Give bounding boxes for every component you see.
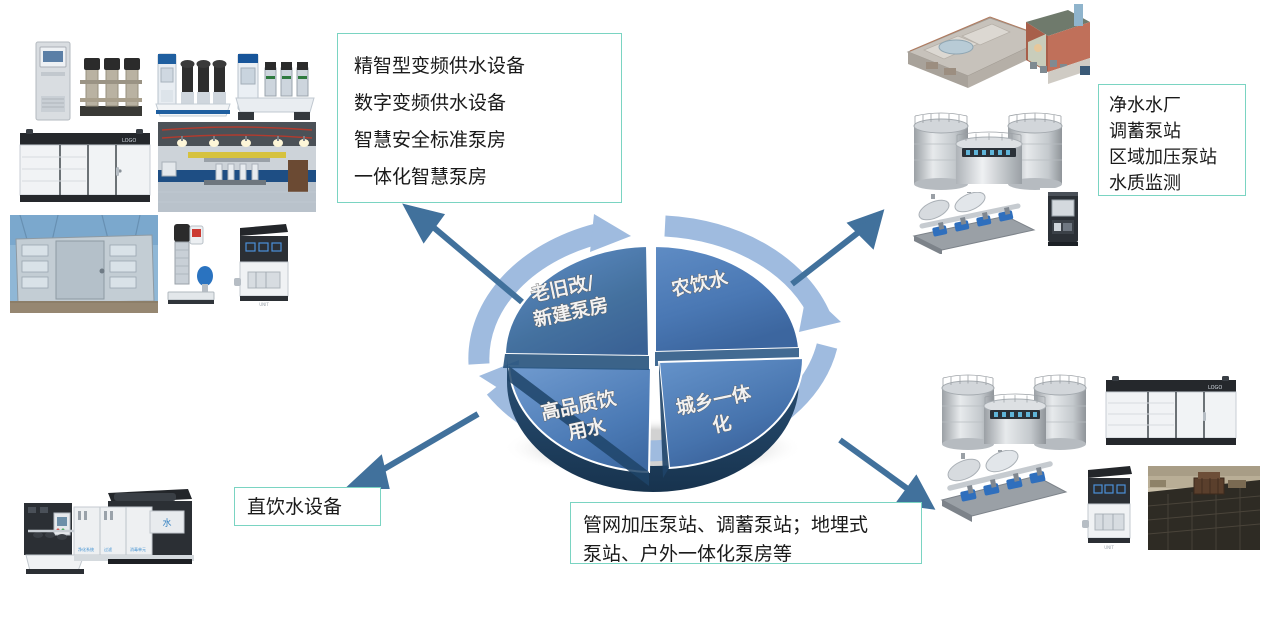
callout-waterworks: 净水水厂 调蓄泵站 区域加压泵站 水质监测 [1098,84,1246,196]
photo-integrated-cabinet-unit: LOGO [12,123,158,211]
callout-pump-stations-line-1: 管网加压泵站、调蓄泵站；地埋式 [583,511,921,540]
arrow-to-waterworks [786,200,886,290]
svg-text:LOGO: LOGO [122,138,136,144]
diagram-canvas: LOGO [0,0,1280,636]
photo-outdoor-stainless-pump-house [10,215,158,313]
callout-pump-equipment-line-3: 智慧安全标准泵房 [354,122,621,159]
photo-pump-skid-with-vessels [908,192,1038,254]
callout-pump-stations-line-2: 泵站、户外一体化泵房等 [583,540,921,569]
callout-pump-equipment: 精智型变频供水设备 数字变频供水设备 智慧安全标准泵房 一体化智慧泵房 [337,33,622,203]
photo-pump-room-interior [158,122,316,212]
photo-direct-drinking-water-system: 水 净化系统 过滤 消毒单元 [12,475,224,597]
photo-wall-mounted-control-unit: UNIT [228,218,298,310]
photo-pump-skid-with-vessels-2 [936,450,1072,522]
callout-pump-equipment-line-4: 一体化智慧泵房 [354,159,621,196]
callout-waterworks-line-4: 水质监测 [1109,171,1245,197]
photo-control-cabinet-with-pumps [14,36,154,126]
callout-waterworks-line-1: 净水水厂 [1109,93,1245,119]
photo-storage-tanks-2 [938,368,1090,456]
photo-blue-booster-set-a [152,46,232,124]
svg-text:UNIT: UNIT [259,302,269,307]
callout-waterworks-line-2: 调蓄泵站 [1109,119,1245,145]
callout-direct-drinking: 直饮水设备 [234,487,381,526]
callout-waterworks-line-3: 区域加压泵站 [1109,145,1245,171]
photo-water-quality-monitor [1040,188,1086,250]
svg-text:净化系统: 净化系统 [78,546,94,552]
arrow-to-pump-equipment [398,200,528,310]
svg-text:消毒单元: 消毒单元 [130,546,146,552]
callout-pump-equipment-line-1: 精智型变频供水设备 [354,48,621,85]
photo-vertical-pump-with-tank [160,218,222,310]
photo-storage-tanks [908,104,1068,194]
photo-buried-pump-station [1148,466,1260,550]
arrow-to-direct-drinking [336,406,486,496]
photo-integrated-cabinet-unit-2: LOGO [1100,372,1244,454]
svg-text:LOGO: LOGO [1208,385,1222,391]
svg-text:过滤: 过滤 [104,546,112,552]
callout-pump-equipment-line-2: 数字变频供水设备 [354,85,621,122]
callout-direct-drinking-line-1: 直饮水设备 [247,494,380,522]
callout-pump-stations: 管网加压泵站、调蓄泵站；地埋式 泵站、户外一体化泵房等 [570,502,922,564]
photo-waterworks-3d-cutaway [898,4,1098,104]
svg-text:UNIT: UNIT [1104,545,1114,550]
photo-blue-booster-set-b [232,48,316,126]
svg-text:水: 水 [162,517,171,529]
photo-outdoor-control-unit: UNIT [1078,462,1140,552]
